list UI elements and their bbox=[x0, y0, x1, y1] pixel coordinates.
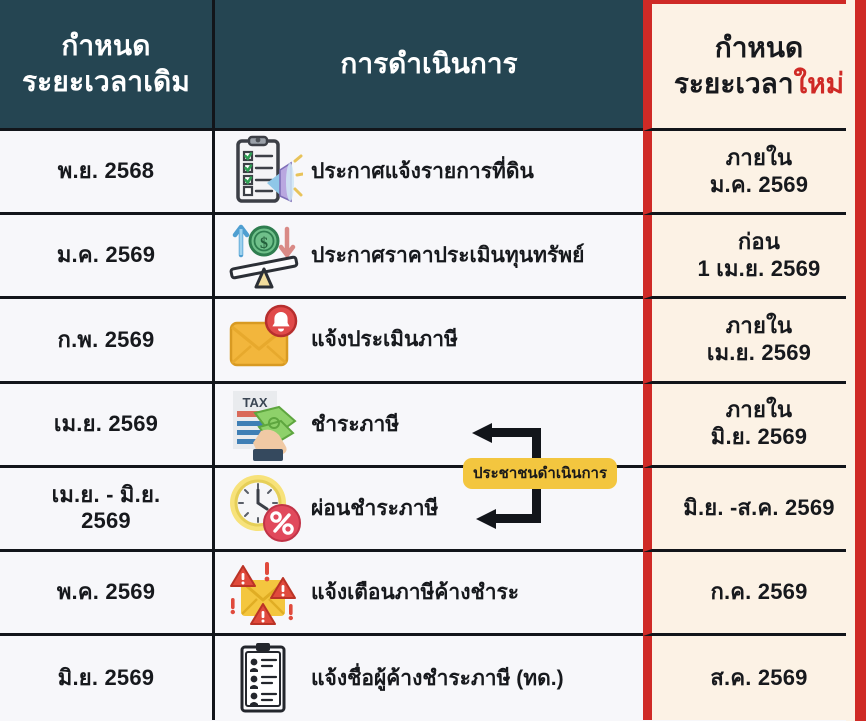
table-row: พ.ย. 2568 bbox=[0, 131, 215, 215]
old-deadline-value: พ.ค. 2569 bbox=[57, 579, 155, 606]
table-row: แจ้งประเมินภาษี bbox=[215, 299, 643, 383]
old-deadline-line1: เม.ย. - มิ.ย. bbox=[52, 482, 161, 509]
action-label: แจ้งประเมินภาษี bbox=[311, 323, 458, 356]
column-header-old-deadline: กำหนด ระยะเวลาเดิม bbox=[0, 0, 215, 131]
new-deadline-header-line2-plain: ระยะเวลา bbox=[674, 68, 794, 99]
new-deadline-line1: ก่อน bbox=[698, 229, 821, 256]
column-header-action: การดำเนินการ bbox=[215, 0, 643, 131]
table-row: $ ประกาศราคาประเมินทุนทรัพย์ bbox=[215, 215, 643, 299]
new-deadline-line2: ม.ค. 2569 bbox=[710, 172, 808, 199]
old-deadline-header-line2: ระยะเวลาเดิม bbox=[22, 64, 190, 100]
table-row: ก.พ. 2569 bbox=[0, 299, 215, 383]
table-row: เม.ย. 2569 bbox=[0, 384, 215, 468]
new-deadline-line1: ภายใน bbox=[711, 397, 807, 424]
old-deadline-line2: 2569 bbox=[52, 508, 161, 535]
clipboard-people-list-icon bbox=[225, 641, 303, 715]
action-label: แจ้งชื่อผู้ค้างชำระภาษี (ทด.) bbox=[311, 662, 564, 695]
new-deadline-header-highlight: ใหม่ bbox=[794, 68, 845, 99]
table-row: ผ่อนชำระภาษี bbox=[215, 468, 643, 552]
table-row: ประกาศแจ้งรายการที่ดิน bbox=[215, 131, 643, 215]
right-rail-tint bbox=[846, 0, 855, 721]
table-row: มิ.ย. -ส.ค. 2569 bbox=[643, 468, 866, 552]
old-deadline-header-line1: กำหนด bbox=[22, 28, 190, 64]
envelope-warning-icon bbox=[225, 556, 303, 630]
tax-timeline-table: กำหนด ระยะเวลาเดิม การดำเนินการ กำหนด ระ… bbox=[0, 0, 866, 721]
action-label: ชำระภาษี bbox=[311, 408, 399, 441]
tax-form-cash-hand-icon: TAX bbox=[225, 387, 303, 461]
table-row: พ.ค. 2569 bbox=[0, 552, 215, 636]
old-deadline-value: ก.พ. 2569 bbox=[58, 327, 155, 354]
old-deadline-value: พ.ย. 2568 bbox=[58, 158, 154, 185]
new-deadline-line1: ภายใน bbox=[707, 313, 811, 340]
table-row: TAX ชำระภาษี bbox=[215, 384, 643, 468]
clock-percent-icon bbox=[225, 471, 303, 545]
action-label: ประกาศราคาประเมินทุนทรัพย์ bbox=[311, 239, 584, 272]
table-row: ก.ค. 2569 bbox=[643, 552, 866, 636]
table-row: ม.ค. 2569 bbox=[0, 215, 215, 299]
action-label: ประกาศแจ้งรายการที่ดิน bbox=[311, 155, 534, 188]
action-label: แจ้งเตือนภาษีค้างชำระ bbox=[311, 576, 519, 609]
new-deadline-header-line1: กำหนด bbox=[674, 30, 844, 66]
action-label: ผ่อนชำระภาษี bbox=[311, 492, 438, 525]
new-deadline-line1: มิ.ย. -ส.ค. 2569 bbox=[683, 495, 834, 522]
table-row: แจ้งเตือนภาษีค้างชำระ bbox=[215, 552, 643, 636]
column-header-new-deadline: กำหนด ระยะเวลาใหม่ bbox=[643, 0, 866, 131]
right-red-rail bbox=[855, 0, 866, 721]
new-deadline-line2: 1 เม.ย. 2569 bbox=[698, 256, 821, 283]
table-row: เม.ย. - มิ.ย. 2569 bbox=[0, 468, 215, 552]
clipboard-megaphone-icon bbox=[225, 135, 303, 209]
table-row: ก่อน 1 เม.ย. 2569 bbox=[643, 215, 866, 299]
new-deadline-line2: เม.ย. 2569 bbox=[707, 340, 811, 367]
balance-scale-money-icon: $ bbox=[225, 219, 303, 293]
new-deadline-line1: ก.ค. 2569 bbox=[710, 579, 807, 606]
new-deadline-line2: มิ.ย. 2569 bbox=[711, 424, 807, 451]
table-row: ภายใน เม.ย. 2569 bbox=[643, 299, 866, 383]
table-row: มิ.ย. 2569 bbox=[0, 636, 215, 720]
infographic-root: กำหนด ระยะเวลาเดิม การดำเนินการ กำหนด ระ… bbox=[0, 0, 866, 721]
svg-text:$: $ bbox=[260, 235, 268, 252]
svg-text:TAX: TAX bbox=[242, 395, 267, 410]
table-row: ภายใน ม.ค. 2569 bbox=[643, 131, 866, 215]
table-row: แจ้งชื่อผู้ค้างชำระภาษี (ทด.) bbox=[215, 636, 643, 720]
table-row: ภายใน มิ.ย. 2569 bbox=[643, 384, 866, 468]
old-deadline-value: ม.ค. 2569 bbox=[57, 242, 155, 269]
table-row: ส.ค. 2569 bbox=[643, 636, 866, 720]
old-deadline-value: เม.ย. 2569 bbox=[54, 411, 158, 438]
action-header-line1: การดำเนินการ bbox=[340, 46, 517, 82]
new-deadline-line1: ส.ค. 2569 bbox=[710, 665, 807, 692]
new-deadline-line1: ภายใน bbox=[710, 145, 808, 172]
envelope-bell-icon bbox=[225, 303, 303, 377]
old-deadline-value: มิ.ย. 2569 bbox=[58, 665, 154, 692]
